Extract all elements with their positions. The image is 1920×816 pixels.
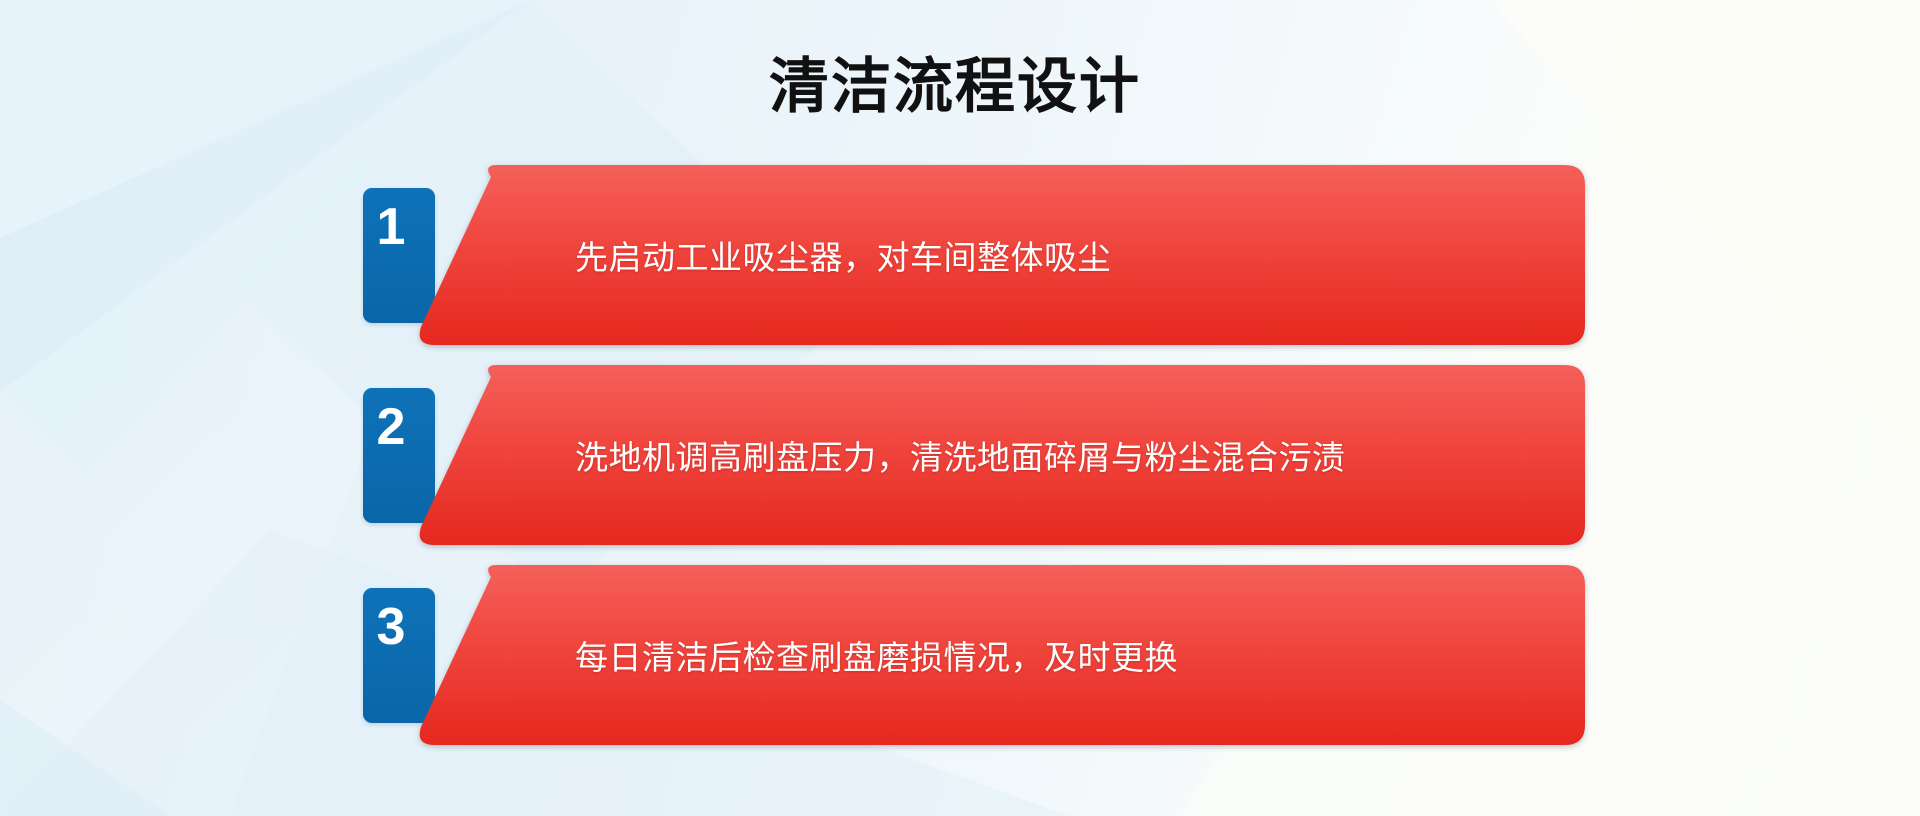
step-panel[interactable]: 每日清洁后检查刷盘磨损情况，及时更换 xyxy=(405,565,1585,745)
step-panel[interactable]: 先启动工业吸尘器，对车间整体吸尘 xyxy=(405,165,1585,345)
step-text: 洗地机调高刷盘压力，清洗地面碎屑与粉尘混合污渍 xyxy=(575,365,1565,545)
step-panel[interactable]: 洗地机调高刷盘压力，清洗地面碎屑与粉尘混合污渍 xyxy=(405,365,1585,545)
steps-list: 1 先启动工业吸尘器，对车间整体吸尘 xyxy=(0,0,1920,816)
step-row: 1 先启动工业吸尘器，对车间整体吸尘 xyxy=(0,155,1920,355)
step-text: 每日清洁后检查刷盘磨损情况，及时更换 xyxy=(575,565,1565,745)
step-row: 3 每日清洁后检查刷盘磨损情况，及时更换 xyxy=(0,555,1920,755)
step-text: 先启动工业吸尘器，对车间整体吸尘 xyxy=(575,165,1565,345)
slide-canvas: 清洁流程设计 1 先启动工业吸尘器，对车 xyxy=(0,0,1920,816)
step-row: 2 洗地机调高刷盘压力，清洗地面碎屑与粉尘混合污渍 xyxy=(0,355,1920,555)
